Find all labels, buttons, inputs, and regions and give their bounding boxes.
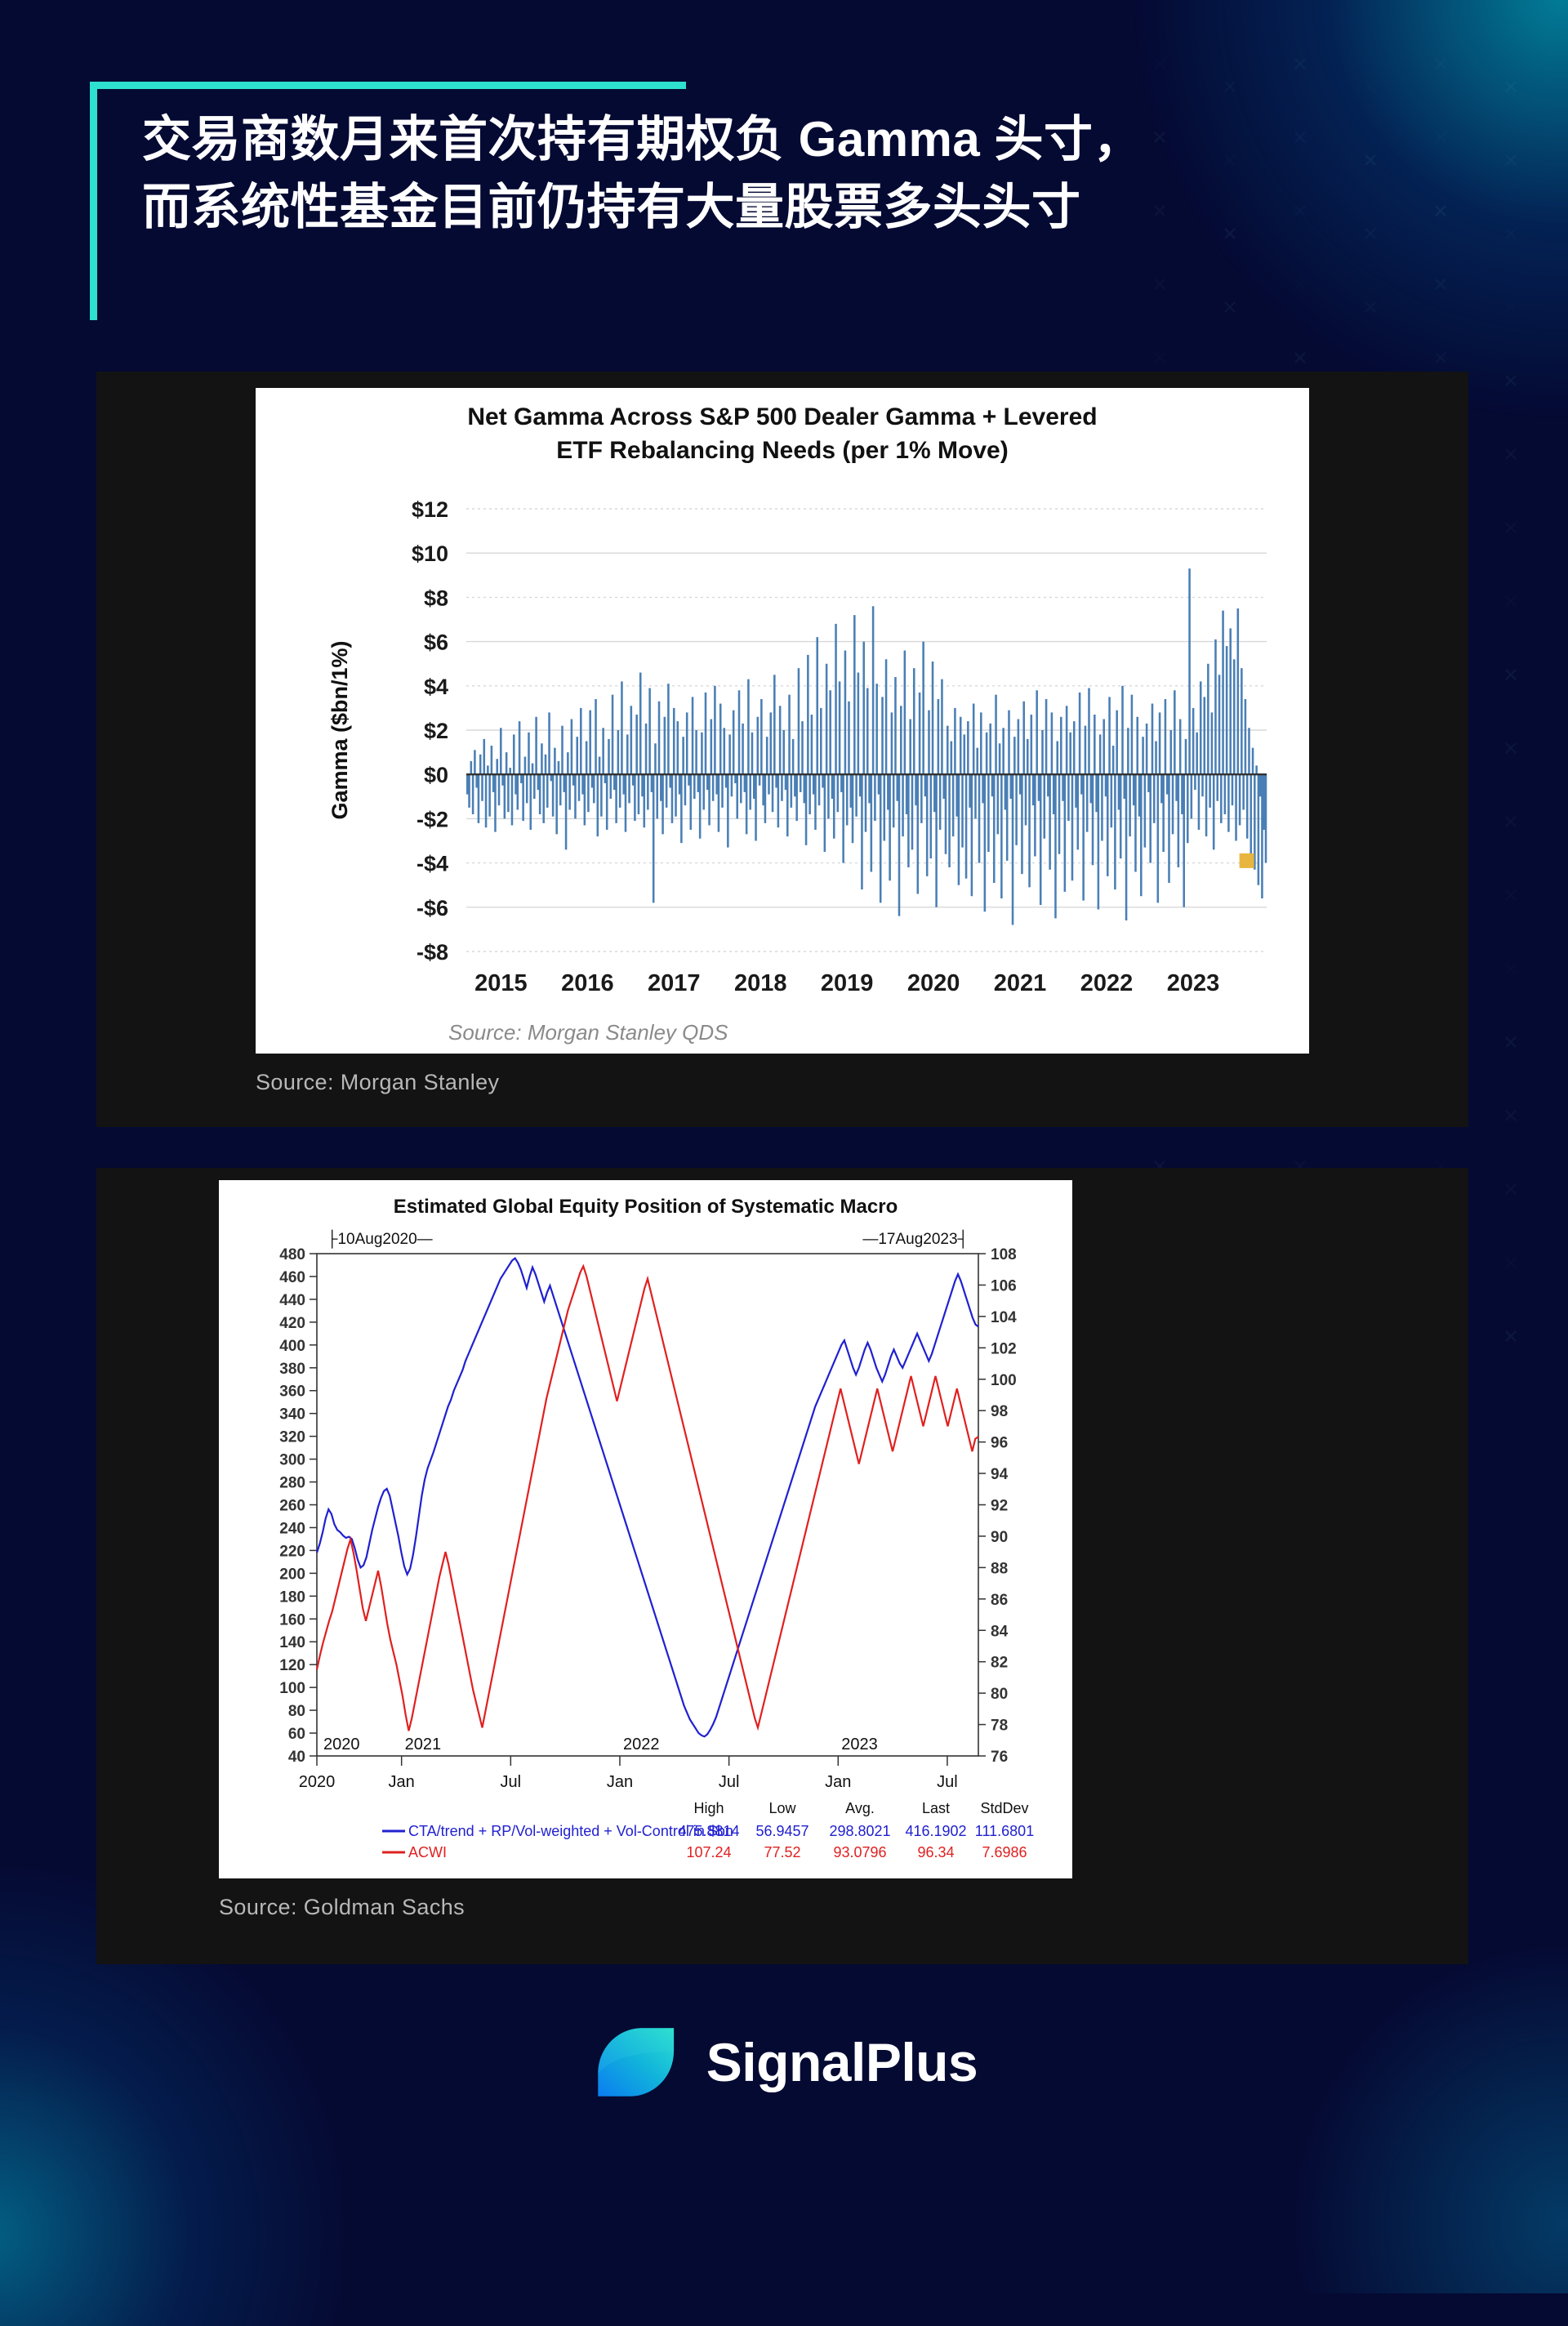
chart2-left-tick-label: 280: [279, 1475, 305, 1492]
chart2-date-end: —17Aug2023┤: [862, 1229, 969, 1249]
chart2-plot-frame: [317, 1254, 978, 1756]
source-caption-morgan-stanley: Source: Morgan Stanley: [256, 1070, 499, 1095]
chart2-legend-stat: 111.6801: [975, 1823, 1034, 1839]
chart2-legend-stat: 298.8021: [829, 1823, 890, 1839]
chart1-ytick-label: $6: [424, 631, 448, 655]
chart2-year-label: 2023: [841, 1736, 878, 1753]
chart2-legend-col-header: StdDev: [980, 1800, 1028, 1816]
chart2-xtick-label: Jul: [719, 1773, 740, 1791]
chart2-left-tick-label: 140: [279, 1634, 305, 1651]
chart2-right-tick-label: 94: [991, 1466, 1009, 1483]
chart2-xtick-label: Jan: [825, 1773, 851, 1791]
source-caption-goldman-sachs: Source: Goldman Sachs: [219, 1895, 465, 1920]
chart1-title-line1: Net Gamma Across S&P 500 Dealer Gamma + …: [467, 403, 1097, 430]
chart2-left-tick-label: 380: [279, 1361, 305, 1378]
chart1-ytick-label: -$4: [416, 852, 448, 876]
accent-rule-left: [90, 82, 97, 320]
chart2-right-tick-label: 88: [991, 1560, 1008, 1577]
chart2-left-tick-label: 260: [279, 1498, 305, 1515]
chart2-year-label: 2022: [623, 1736, 660, 1753]
systematic-macro-chart: Estimated Global Equity Position of Syst…: [219, 1180, 1072, 1878]
chart2-footnote: Source: Goldman Sachs FICC and Equities …: [234, 1877, 1064, 1878]
chart2-series-cta: [317, 1259, 978, 1737]
chart2-legend-label: ACWI: [408, 1844, 447, 1860]
page-title: 交易商数月来首次持有期权负 Gamma 头寸， 而系统性基金目前仍持有大量股票多…: [90, 82, 1405, 242]
chart-panel-net-gamma: Net Gamma Across S&P 500 Dealer Gamma + …: [96, 372, 1468, 1127]
chart1-ytick-label: -$2: [416, 807, 448, 831]
chart2-left-tick-label: 120: [279, 1657, 305, 1674]
chart2-legend-stat: 107.24: [686, 1844, 731, 1860]
chart2-right-tick-label: 86: [991, 1592, 1008, 1609]
chart2-left-tick-label: 460: [279, 1269, 305, 1286]
chart2-left-tick-label: 420: [279, 1315, 305, 1332]
chart2-left-tick-label: 100: [279, 1680, 305, 1697]
chart2-left-tick-label: 80: [288, 1703, 305, 1720]
chart2-legend-stat: 475.8814: [678, 1823, 739, 1839]
chart2-legend-col-header: Last: [922, 1800, 950, 1816]
chart2-left-tick-label: 240: [279, 1520, 305, 1537]
chart2-left-tick-label: 340: [279, 1406, 305, 1424]
chart2-xtick-label: Jan: [389, 1773, 415, 1791]
brand-logo-row: SignalPlus: [0, 2001, 1568, 2123]
chart2-left-tick-label: 160: [279, 1611, 305, 1629]
chart1-bars: [466, 568, 1267, 925]
page-title-line-2: 而系统性基金目前仍持有大量股票多头头寸: [142, 174, 1405, 242]
chart2-legend-stat: 56.9457: [755, 1823, 808, 1839]
chart2-right-tick-label: 80: [991, 1686, 1008, 1703]
figure-systematic-macro: Estimated Global Equity Position of Syst…: [219, 1180, 1072, 1878]
chart2-right-tick-label: 100: [991, 1372, 1017, 1389]
chart2-right-tick-label: 90: [991, 1529, 1008, 1546]
chart2-xtick-label: Jul: [501, 1773, 522, 1791]
chart2-legend-col-header: Low: [768, 1800, 796, 1816]
chart2-legend-stat: 416.1902: [905, 1823, 966, 1839]
chart1-ytick-label: -$8: [416, 940, 448, 965]
chart1-ytick-label: $12: [412, 497, 448, 522]
chart2-legend-col-header: Avg.: [845, 1800, 875, 1816]
chart1-xtick-label: 2018: [734, 970, 787, 996]
chart1-xtick-label: 2017: [648, 970, 701, 996]
chart1-latest-marker: [1240, 853, 1254, 868]
chart2-left-tick-label: 480: [279, 1246, 305, 1263]
chart2-series-acwi: [317, 1266, 978, 1731]
accent-rule-top: [90, 82, 686, 89]
chart2-right-tick-label: 106: [991, 1277, 1017, 1294]
chart2-right-tick-label: 98: [991, 1403, 1008, 1420]
chart2-left-tick-label: 360: [279, 1384, 305, 1401]
chart2-right-tick-label: 108: [991, 1246, 1017, 1263]
signalplus-wave-logo-icon: [590, 2015, 685, 2110]
chart2-year-label: 2020: [323, 1736, 360, 1753]
chart1-xtick-label: 2016: [561, 970, 614, 996]
chart1-ytick-label: $0: [424, 763, 448, 787]
chart2-xtick-label: 2020: [299, 1773, 336, 1791]
chart2-legend-stat: 77.52: [764, 1844, 800, 1860]
brand-name: SignalPlus: [706, 2031, 978, 2093]
chart1-ytick-label: $4: [424, 675, 448, 699]
chart2-right-tick-label: 96: [991, 1435, 1008, 1452]
chart2-right-tick-label: 92: [991, 1498, 1008, 1515]
chart2-left-tick-label: 220: [279, 1543, 305, 1560]
chart1-ytick-label: $8: [424, 586, 448, 610]
chart2-legend-col-header: High: [693, 1800, 724, 1816]
chart2-right-tick-label: 76: [991, 1749, 1008, 1766]
chart2-left-tick-label: 300: [279, 1452, 305, 1469]
chart1-y-axis-label: Gamma ($bn/1%): [327, 640, 352, 819]
chart2-left-tick-label: 400: [279, 1338, 305, 1355]
chart1-xtick-label: 2019: [821, 970, 874, 996]
chart1-xtick-label: 2020: [907, 970, 960, 996]
chart-panel-systematic-macro: Estimated Global Equity Position of Syst…: [96, 1168, 1468, 1964]
chart2-year-label: 2021: [405, 1736, 442, 1753]
chart1-xtick-label: 2021: [994, 970, 1047, 996]
chart2-left-tick-label: 200: [279, 1566, 305, 1583]
chart2-title: Estimated Global Equity Position of Syst…: [394, 1196, 898, 1218]
chart1-xtick-label: 2015: [474, 970, 528, 996]
net-gamma-chart: Net Gamma Across S&P 500 Dealer Gamma + …: [256, 388, 1309, 1054]
headline-block: 交易商数月来首次持有期权负 Gamma 头寸， 而系统性基金目前仍持有大量股票多…: [90, 82, 1405, 242]
chart2-legend-stat: 93.0796: [833, 1844, 886, 1860]
chart1-xtick-label: 2022: [1080, 970, 1134, 996]
chart2-legend-stat: 96.34: [917, 1844, 954, 1860]
chart2-right-tick-label: 102: [991, 1340, 1017, 1357]
page-title-line-1: 交易商数月来首次持有期权负 Gamma 头寸，: [142, 106, 1405, 174]
chart1-ytick-label: -$6: [416, 896, 448, 920]
chart2-left-tick-label: 320: [279, 1429, 305, 1446]
chart1-xtick-label: 2023: [1167, 970, 1220, 996]
figure-net-gamma: Net Gamma Across S&P 500 Dealer Gamma + …: [256, 388, 1309, 1054]
chart2-left-tick-label: 60: [288, 1726, 305, 1743]
chart2-xtick-label: Jan: [607, 1773, 633, 1791]
chart2-date-start: ├10Aug2020—: [327, 1229, 433, 1249]
chart2-right-tick-label: 82: [991, 1655, 1008, 1672]
chart2-legend-stat: 7.6986: [982, 1844, 1027, 1860]
chart1-source-note: Source: Morgan Stanley QDS: [448, 1020, 728, 1045]
chart2-left-tick-label: 180: [279, 1589, 305, 1606]
chart1-title-line2: ETF Rebalancing Needs (per 1% Move): [556, 437, 1008, 464]
chart2-right-tick-label: 78: [991, 1718, 1008, 1735]
chart2-left-tick-label: 40: [288, 1749, 305, 1766]
chart2-left-tick-label: 440: [279, 1292, 305, 1309]
chart1-ytick-label: $2: [424, 719, 448, 743]
chart2-right-tick-label: 84: [991, 1623, 1009, 1640]
chart1-ytick-label: $10: [412, 541, 448, 566]
chart2-xtick-label: Jul: [937, 1773, 958, 1791]
chart2-right-tick-label: 104: [991, 1309, 1017, 1326]
